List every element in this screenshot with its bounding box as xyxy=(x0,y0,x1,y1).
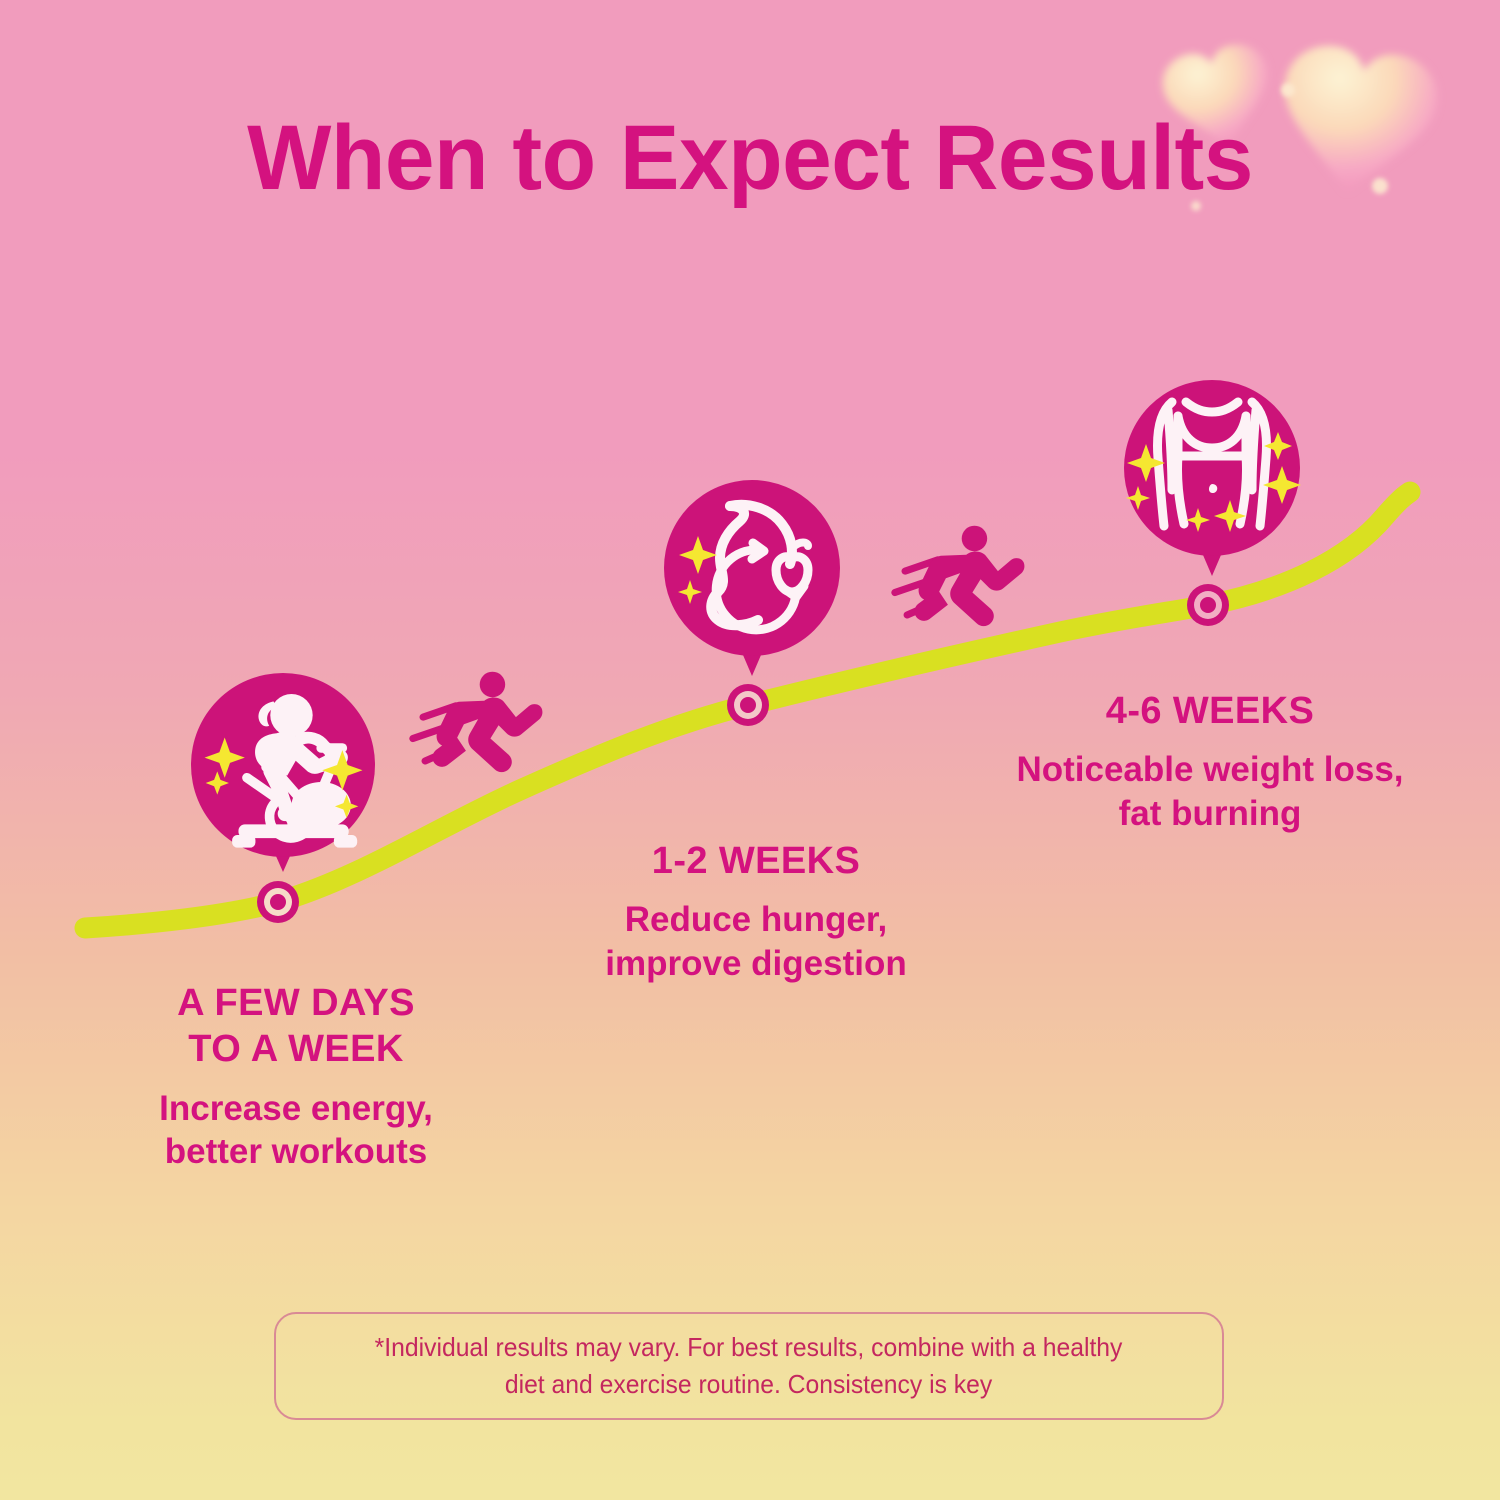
milestone-2-text: 1-2 WEEKS Reduce hunger, improve digesti… xyxy=(530,838,982,986)
infographic-poster: When to Expect Results xyxy=(0,0,1500,1500)
milestone-1-text: A FEW DAYS TO A WEEK Increase energy, be… xyxy=(66,980,526,1174)
milestone-3-pin[interactable] xyxy=(1124,380,1301,576)
milestone-2-body: Reduce hunger, improve digestion xyxy=(530,898,982,986)
milestone-3-heading: 4-6 WEEKS xyxy=(980,688,1440,734)
milestone-3-text: 4-6 WEEKS Noticeable weight loss, fat bu… xyxy=(980,688,1440,836)
milestone-2-heading: 1-2 WEEKS xyxy=(530,838,982,884)
milestone-1-heading: A FEW DAYS TO A WEEK xyxy=(66,980,526,1073)
disclaimer-text: *Individual results may vary. For best r… xyxy=(375,1329,1123,1403)
milestone-2-pin[interactable] xyxy=(664,480,840,676)
runner-icon-2 xyxy=(895,526,1025,626)
curve-marker-1[interactable] xyxy=(257,881,299,923)
disclaimer-box: *Individual results may vary. For best r… xyxy=(274,1312,1224,1420)
milestone-3-body: Noticeable weight loss, fat burning xyxy=(980,748,1440,836)
milestone-1-pin[interactable] xyxy=(191,673,375,872)
runner-icon-1 xyxy=(413,672,543,772)
curve-marker-3[interactable] xyxy=(1187,584,1229,626)
curve-marker-2[interactable] xyxy=(727,684,769,726)
milestone-1-body: Increase energy, better workouts xyxy=(66,1087,526,1175)
